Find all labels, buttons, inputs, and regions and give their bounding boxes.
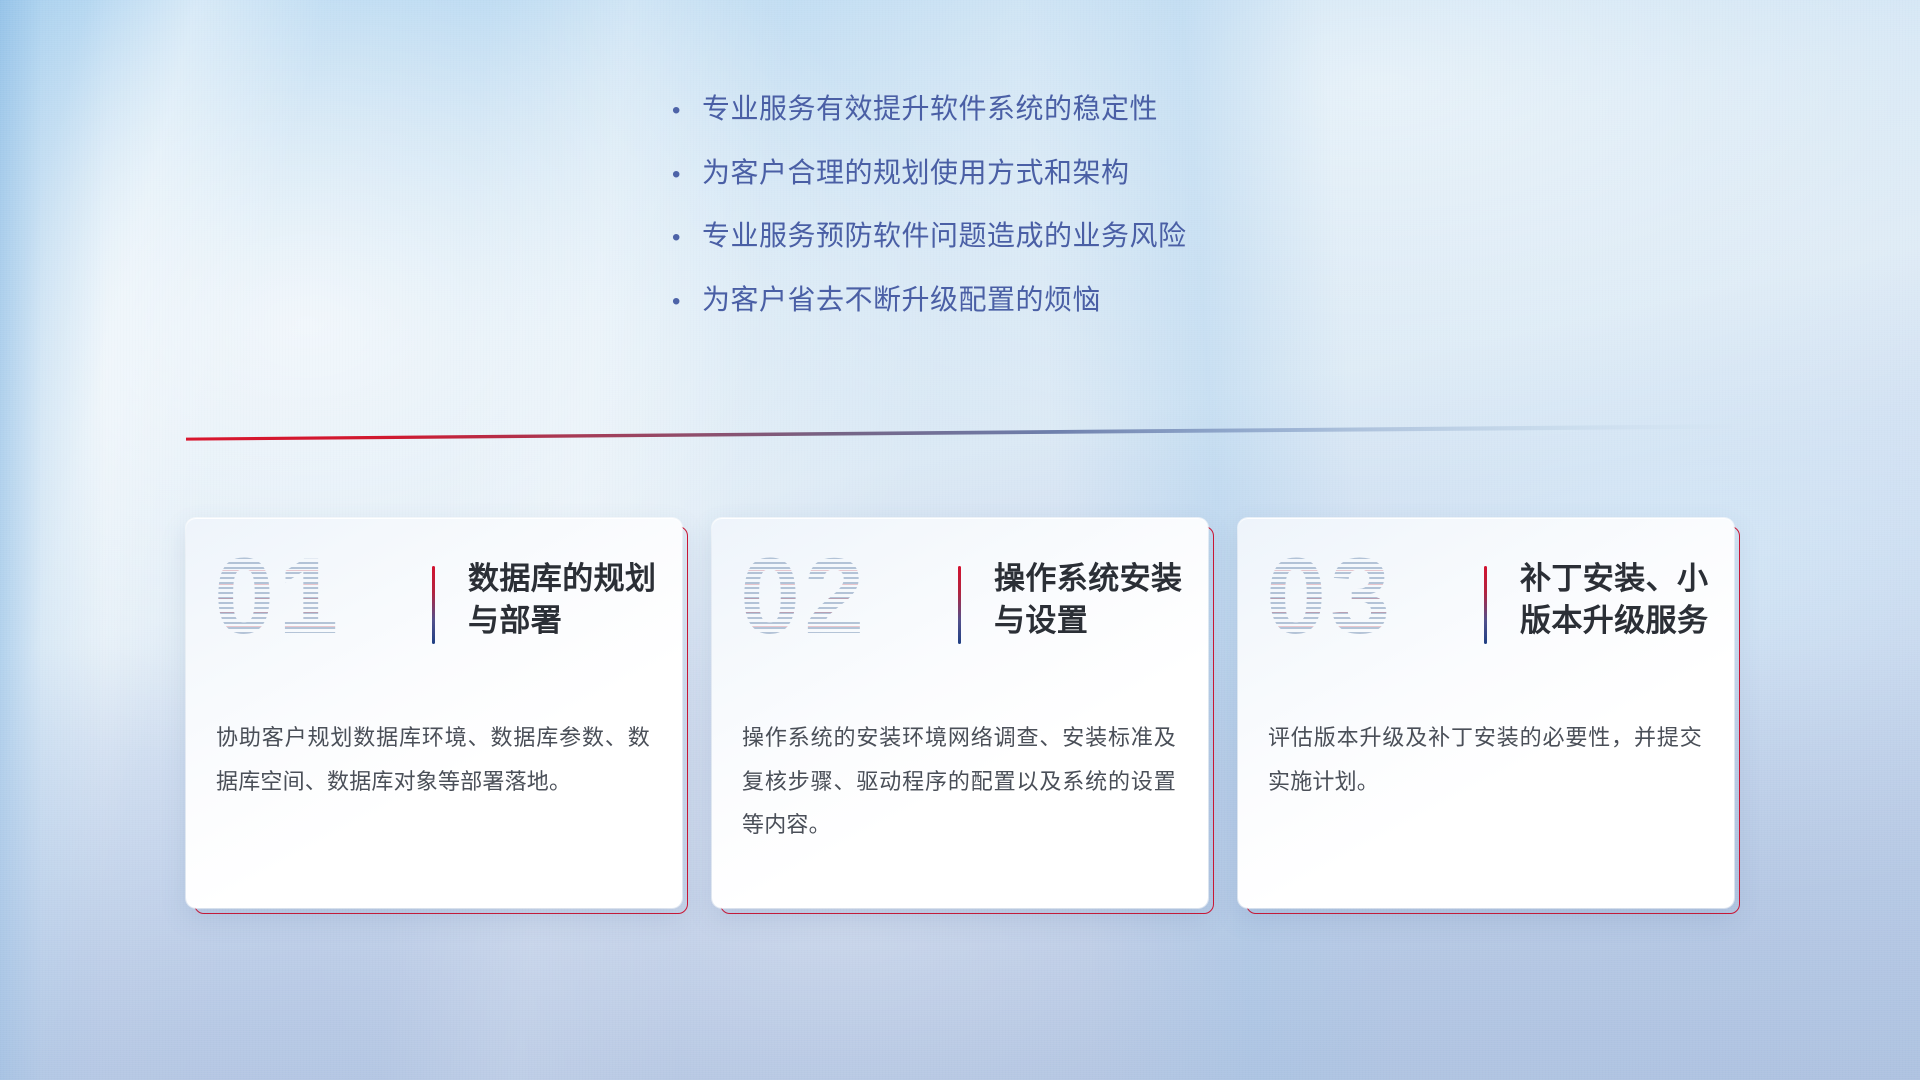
service-card-02[interactable]: 02 02 操作系统安装与设置 操作系统的安装环境网络调查、安装标准及复核步骤、… [712,518,1208,908]
bullet-dot-icon: • [672,226,702,250]
card-number-ghost: 03 [1266,542,1394,650]
bullet-dot-icon: • [672,290,702,314]
card-surface: 02 02 操作系统安装与设置 操作系统的安装环境网络调查、安装标准及复核步骤、… [712,518,1208,908]
card-header: 01 01 数据库的规划与部署 [186,518,682,694]
card-number-ghost: 02 [740,542,868,650]
card-title: 数据库的规划与部署 [468,558,668,641]
list-item: • 专业服务有效提升软件系统的稳定性 [672,92,1572,126]
card-title-rule [432,566,435,644]
card-body-text: 评估版本升级及补丁安装的必要性，并提交实施计划。 [1268,716,1702,803]
benefits-bullet-list: • 专业服务有效提升软件系统的稳定性 • 为客户合理的规划使用方式和架构 • 专… [672,92,1572,346]
service-card-row: 01 01 数据库的规划与部署 协助客户规划数据库环境、数据库参数、数据库空间、… [186,518,1734,920]
card-number-ghost: 01 [214,542,342,650]
divider-wedge-icon [186,424,1732,442]
card-surface: 01 01 数据库的规划与部署 协助客户规划数据库环境、数据库参数、数据库空间、… [186,518,682,908]
slide-canvas: • 专业服务有效提升软件系统的稳定性 • 为客户合理的规划使用方式和架构 • 专… [0,0,1920,1080]
list-item: • 为客户省去不断升级配置的烦恼 [672,283,1572,317]
list-item: • 专业服务预防软件问题造成的业务风险 [672,219,1572,253]
card-title-rule [958,566,961,644]
card-title-rule [1484,566,1487,644]
card-header: 02 02 操作系统安装与设置 [712,518,1208,694]
bullet-dot-icon: • [672,163,702,187]
bullet-text: 为客户省去不断升级配置的烦恼 [702,283,1101,317]
service-card-03[interactable]: 03 03 补丁安装、小版本升级服务 评估版本升级及补丁安装的必要性，并提交实施… [1238,518,1734,908]
bullet-text: 专业服务有效提升软件系统的稳定性 [702,92,1158,126]
bullet-dot-icon: • [672,99,702,123]
section-divider [186,424,1732,442]
list-item: • 为客户合理的规划使用方式和架构 [672,156,1572,190]
card-body-text: 协助客户规划数据库环境、数据库参数、数据库空间、数据库对象等部署落地。 [216,716,650,803]
card-title: 补丁安装、小版本升级服务 [1520,558,1720,641]
bullet-text: 专业服务预防软件问题造成的业务风险 [702,219,1187,253]
bullet-text: 为客户合理的规划使用方式和架构 [702,156,1130,190]
card-header: 03 03 补丁安装、小版本升级服务 [1238,518,1734,694]
card-body-text: 操作系统的安装环境网络调查、安装标准及复核步骤、驱动程序的配置以及系统的设置等内… [742,716,1176,847]
card-title: 操作系统安装与设置 [994,558,1194,641]
service-card-01[interactable]: 01 01 数据库的规划与部署 协助客户规划数据库环境、数据库参数、数据库空间、… [186,518,682,908]
card-surface: 03 03 补丁安装、小版本升级服务 评估版本升级及补丁安装的必要性，并提交实施… [1238,518,1734,908]
